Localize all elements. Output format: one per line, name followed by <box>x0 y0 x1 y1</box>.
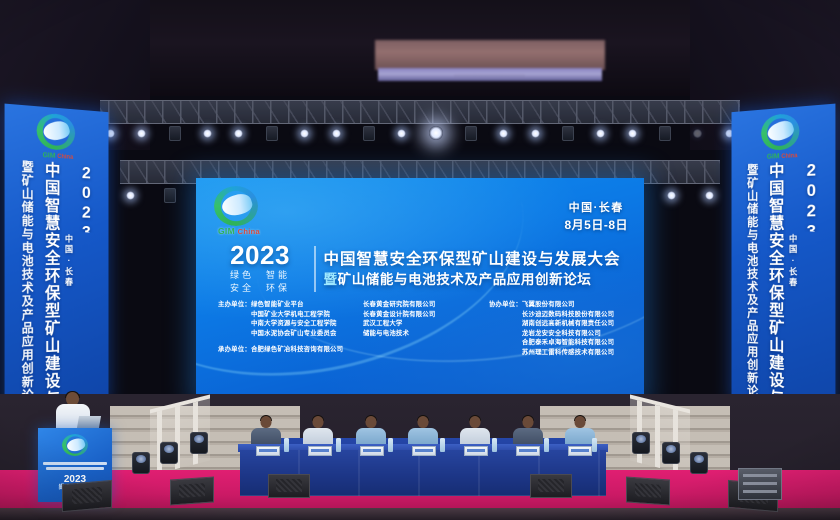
banner-text-columns: 2023 中国·长春 中国智慧安全环保型矿山建设与发展大会 暨矿山储能与电池技术… <box>5 159 109 412</box>
gim-china-logo <box>58 434 92 460</box>
logo-name: GIM <box>767 153 780 161</box>
vertical-banner-right: GIM China 2023 中国·长春 中国智慧安全环保型矿山建设与发展大会 … <box>732 104 836 413</box>
water-bottle <box>544 438 549 452</box>
banner-sub-title: 暨矿山储能与电池技术及产品应用创新论坛 <box>19 160 36 409</box>
screen-main-title: 中国智慧安全环保型矿山建设与发展大会 <box>324 249 627 270</box>
placard-stripe <box>467 449 485 452</box>
name-placard <box>516 446 540 456</box>
co-organizer-item: 长沙迪迈数码科技股份有限公司 <box>522 310 614 320</box>
stage-front-edge <box>0 508 840 520</box>
name-placard <box>412 446 436 456</box>
logo-suffix: China <box>238 227 260 236</box>
stage-light <box>705 191 714 200</box>
panelist-head <box>261 416 272 428</box>
screen-location-date: 中国·长春 8月5日-8日 <box>564 200 628 234</box>
organizer-item: 长春黄金设计院有限公司 <box>363 310 475 320</box>
organizer-item: 中国矿业大学机电工程学院 <box>251 310 363 320</box>
floor-monitor-speaker <box>170 476 214 505</box>
stage-light <box>332 129 341 138</box>
water-bottle <box>492 438 497 452</box>
screen-slogan-line2: 安全 环保 <box>214 282 306 295</box>
co-organizer-item: 苏州理工雷科传感技术有限公司 <box>522 348 614 358</box>
banner-year: 2023 <box>77 163 96 233</box>
water-bottle <box>284 438 289 452</box>
host-unit-label: 承办单位： <box>218 346 251 353</box>
equipment-road-case <box>738 468 782 500</box>
screen-sub-title-prefix: 暨 <box>324 272 338 287</box>
stage-light <box>397 129 406 138</box>
organizer-item: 中国水泥协会矿山专业委员会 <box>251 329 363 339</box>
moving-head-fixture <box>169 126 181 141</box>
gim-china-logo: GIM China <box>208 186 270 238</box>
water-bottle <box>388 438 393 452</box>
water-bottle <box>440 438 445 452</box>
stage-light <box>628 129 637 138</box>
stage-light <box>693 129 702 138</box>
floor-monitor-speaker <box>268 474 310 498</box>
co-organizer-item: 龙岩龙安安全科技有限公司 <box>522 329 614 339</box>
logo-text: GIM China <box>208 226 270 236</box>
stage-light <box>126 191 135 200</box>
logo-name: GIM <box>218 226 235 236</box>
banner-main-title: 中国智慧安全环保型矿山建设与发展大会 <box>763 162 786 406</box>
co-organizer-label: 协办单位： <box>489 300 522 358</box>
placard-stripe <box>415 449 433 452</box>
podium-laptop <box>77 416 101 428</box>
organizer-list-b: 长春黄金研究院有限公司 长春黄金设计院有限公司 武汉工程大学 储能与电池技术 <box>363 300 475 358</box>
floor-monitor-speaker <box>62 480 112 512</box>
screen-title-divider <box>314 246 316 292</box>
placard-stripe <box>519 449 537 452</box>
organizer-item: 中南大学资源与安全工程学院 <box>251 319 363 329</box>
moving-head-fixture <box>266 126 278 141</box>
screen-date: 8月5日-8日 <box>564 217 628 234</box>
name-placard <box>360 446 384 456</box>
logo-suffix: China <box>57 154 73 161</box>
name-placard <box>308 446 332 456</box>
name-placard <box>464 446 488 456</box>
placard-stripe <box>259 449 277 452</box>
led-stage-screen: GIM China 中国·长春 8月5日-8日 2023 绿色 智能 安全 环保… <box>196 178 644 400</box>
host-unit-value: 合肥绿色矿冶科技咨询有限公司 <box>251 346 343 353</box>
co-organizer-item: 合肥泰禾卓海智能科技有限公司 <box>522 338 614 348</box>
screen-year: 2023 <box>214 242 306 269</box>
floor-monitor-speaker <box>530 474 572 498</box>
panelist-head <box>313 416 324 428</box>
screen-slogan-line1: 绿色 智能 <box>214 269 306 282</box>
stage-light <box>234 129 243 138</box>
moving-head-fixture <box>562 126 574 141</box>
organizer-item: 武汉工程大学 <box>363 319 475 329</box>
stage-light <box>203 129 212 138</box>
stage-light <box>596 129 605 138</box>
co-organizer-item: 湖南创远高新机械有限责任公司 <box>522 319 614 329</box>
banner-year: 2023 <box>801 160 821 232</box>
placard-stripe <box>571 449 589 452</box>
name-placard <box>568 446 592 456</box>
stage-light-row-upper <box>100 120 740 146</box>
logo-suffix: China <box>781 153 797 160</box>
conference-stage-photo: ........................ <box>0 0 840 520</box>
placard-stripe <box>311 449 329 452</box>
moving-head-fixture <box>164 188 176 203</box>
name-placard <box>256 446 280 456</box>
organizer-item: 绿色智能矿业平台 <box>251 300 363 310</box>
gim-china-logo: GIM China <box>755 112 809 162</box>
moving-head-fixture <box>659 126 671 141</box>
stage-light <box>137 129 146 138</box>
vertical-banner-left: GIM China 2023 中国·长春 中国智慧安全环保型矿山建设与发展大会 … <box>5 104 109 413</box>
placard-stripe <box>363 449 381 452</box>
panelist-head <box>470 416 481 428</box>
venue-ceiling-sign-text: ........................ <box>378 68 602 81</box>
stage-light <box>499 129 508 138</box>
moving-head-light <box>132 452 150 474</box>
banner-text-columns: 2023 中国·长春 中国智慧安全环保型矿山建设与发展大会 暨矿山储能与电池技术… <box>732 159 836 412</box>
moving-head-fixture <box>465 126 477 141</box>
banner-city: 中国·长春 <box>63 234 74 304</box>
ceiling-beam <box>375 40 605 70</box>
panelist-head <box>417 416 428 428</box>
screen-title-block: 2023 绿色 智能 安全 环保 中国智慧安全环保型矿山建设与发展大会 暨矿山储… <box>214 242 626 295</box>
logo-text: GIM China <box>31 151 85 161</box>
screen-city: 中国·长春 <box>564 200 628 217</box>
moving-head-light <box>190 432 208 454</box>
organizer-item: 长春黄金研究院有限公司 <box>363 300 475 310</box>
screen-sub-title-row: 暨矿山储能与电池技术及产品应用创新论坛 <box>324 270 627 289</box>
moving-head-light <box>160 442 178 464</box>
water-bottle <box>592 438 597 452</box>
logo-name: GIM <box>43 152 56 160</box>
co-organizer-group: 协办单位： 飞翼股份有限公司 长沙迪迈数码科技股份有限公司 湖南创远高新机械有限… <box>489 300 614 358</box>
host-unit-row: 承办单位：合肥绿色矿冶科技咨询有限公司 <box>218 344 343 353</box>
banner-main-title: 中国智慧安全环保型矿山建设与发展大会 <box>38 161 61 408</box>
banner-city: 中国·长春 <box>787 234 799 305</box>
stage-light <box>667 191 676 200</box>
logo-text: GIM China <box>755 151 809 161</box>
water-bottle <box>336 438 341 452</box>
panelist-head <box>522 416 533 428</box>
moving-head-fixture <box>363 126 375 141</box>
moving-head-light <box>632 432 650 454</box>
stage-light-bright <box>429 126 443 140</box>
organizer-item: 储能与电池技术 <box>363 329 475 339</box>
co-organizer-list: 飞翼股份有限公司 长沙迪迈数码科技股份有限公司 湖南创远高新机械有限责任公司 龙… <box>522 300 614 358</box>
podium-title-line <box>46 467 104 470</box>
moving-head-light <box>690 452 708 474</box>
screen-title-lines: 中国智慧安全环保型矿山建设与发展大会 暨矿山储能与电池技术及产品应用创新论坛 <box>324 249 627 289</box>
screen-year-block: 2023 绿色 智能 安全 环保 <box>214 242 306 295</box>
panelist-head <box>574 416 585 428</box>
co-organizer-item: 飞翼股份有限公司 <box>522 300 614 310</box>
stage-light <box>531 129 540 138</box>
floor-monitor-speaker <box>626 476 670 505</box>
podium-title-line <box>43 462 107 465</box>
moving-head-light <box>662 442 680 464</box>
banner-sub-title: 暨矿山储能与电池技术及产品应用创新论坛 <box>745 163 761 404</box>
panelist-head <box>365 416 376 428</box>
venue-ceiling-sign: ........................ <box>378 68 602 81</box>
stage-light <box>300 129 309 138</box>
gim-china-logo: GIM China <box>31 112 85 162</box>
screen-sub-title: 矿山储能与电池技术及产品应用创新论坛 <box>338 272 592 287</box>
